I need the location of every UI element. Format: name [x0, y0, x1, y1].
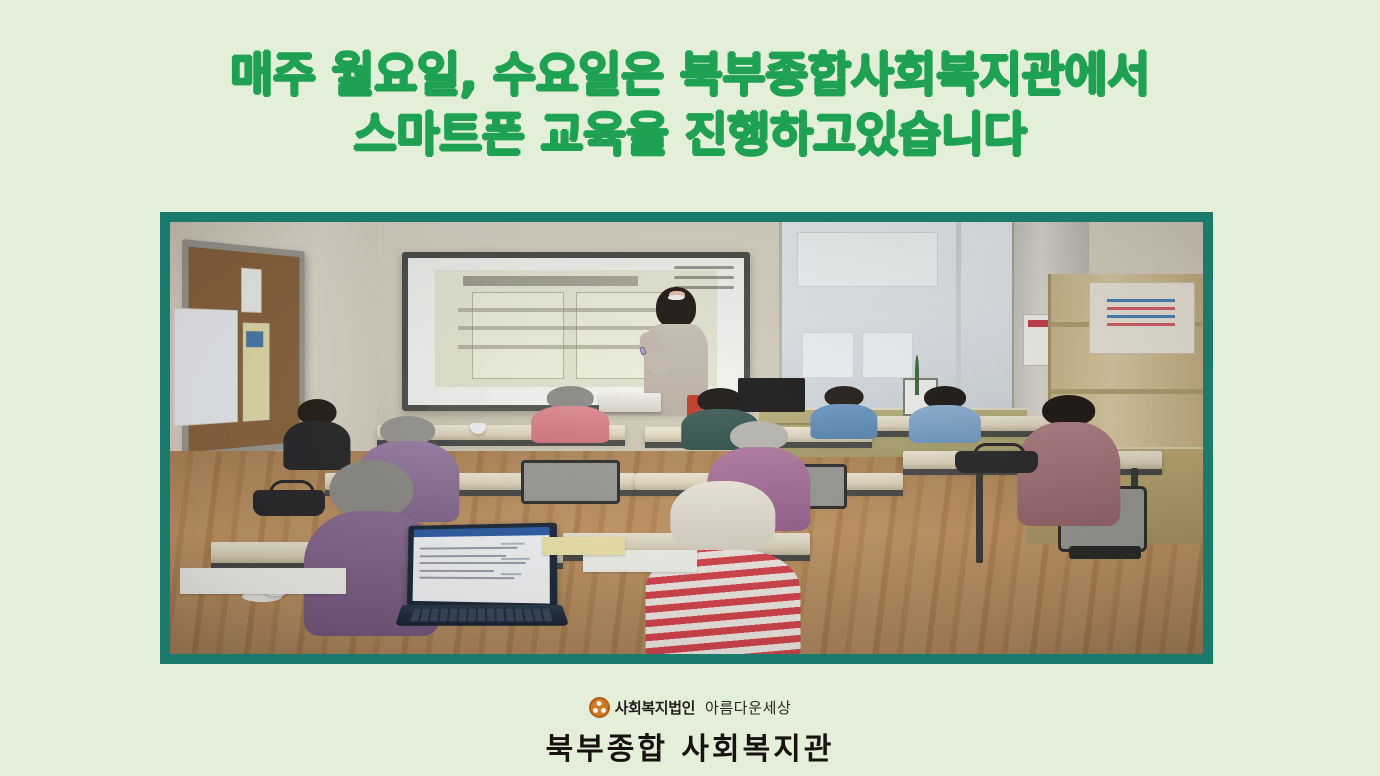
bucket-hat-icon [670, 481, 775, 554]
student-head [330, 460, 413, 519]
window-blind [862, 332, 914, 379]
laptop [402, 524, 562, 636]
spreadsheet-row [420, 548, 517, 551]
laptop-screen [407, 523, 557, 609]
spreadsheet-row [420, 563, 526, 565]
handbag-icon [955, 451, 1038, 473]
poster-root: 매주 월요일, 수요일은 북부종합사회복지관에서 스마트폰 교육을 진행하고있습… [0, 0, 1380, 776]
chair-base [1069, 546, 1141, 559]
spreadsheet-row [420, 555, 506, 557]
chair [521, 460, 620, 505]
spreadsheet-row [419, 577, 514, 580]
smartphone-icon [639, 346, 647, 355]
slide-column [472, 292, 564, 379]
worksheet [542, 537, 625, 554]
spreadsheet-cell [501, 558, 529, 560]
footer-corp-line: 사회복지법인 아름다운세상 [0, 694, 1380, 720]
window-blind [797, 232, 938, 287]
instructor-head [656, 287, 696, 328]
board-poster [242, 268, 262, 314]
shelf-plank [1051, 389, 1203, 394]
footer-corporation-label: 사회복지법인 [615, 697, 695, 718]
handbag-icon [253, 490, 325, 516]
student-body [1017, 422, 1120, 526]
window-blind [802, 332, 854, 379]
title-line-1: 매주 월요일, 수요일은 북부종합사회복지관에서 [0, 52, 1380, 99]
classroom-photo [170, 222, 1203, 654]
student [532, 386, 609, 442]
spreadsheet-row [420, 570, 495, 572]
poster-title: 매주 월요일, 수요일은 북부종합사회복지관에서 스마트폰 교육을 진행하고있습… [0, 52, 1380, 159]
photo-frame [160, 212, 1213, 664]
laptop-base [395, 605, 570, 626]
student [909, 386, 981, 442]
board-poster [243, 323, 270, 423]
laptop-spreadsheet [413, 527, 551, 604]
title-line-2: 스마트폰 교육을 진행하고있습니다 [0, 112, 1380, 159]
three-dot-circle-logo-icon [589, 697, 610, 718]
footer-brand-label: 아름다운세상 [705, 697, 791, 718]
footer: 사회복지법인 아름다운세상 북부종합 사회복지관 [0, 694, 1380, 768]
student [284, 399, 351, 468]
student [810, 386, 877, 438]
student-body [909, 405, 981, 443]
desk-leg [976, 468, 983, 563]
spreadsheet-cell [501, 573, 521, 575]
worksheet [180, 568, 345, 594]
shelf-tote-bag [1089, 282, 1194, 353]
slide-title-bar [463, 276, 638, 287]
student-body [532, 406, 609, 443]
app-title-bar [414, 527, 550, 537]
laptop-keyboard [411, 609, 555, 622]
footer-center-name: 북부종합 사회복지관 [0, 724, 1380, 768]
classroom-scene [170, 222, 1203, 654]
student-body [810, 404, 877, 439]
spreadsheet-cell [501, 543, 524, 545]
board-poster [174, 308, 238, 427]
face-mask-icon [668, 295, 684, 300]
